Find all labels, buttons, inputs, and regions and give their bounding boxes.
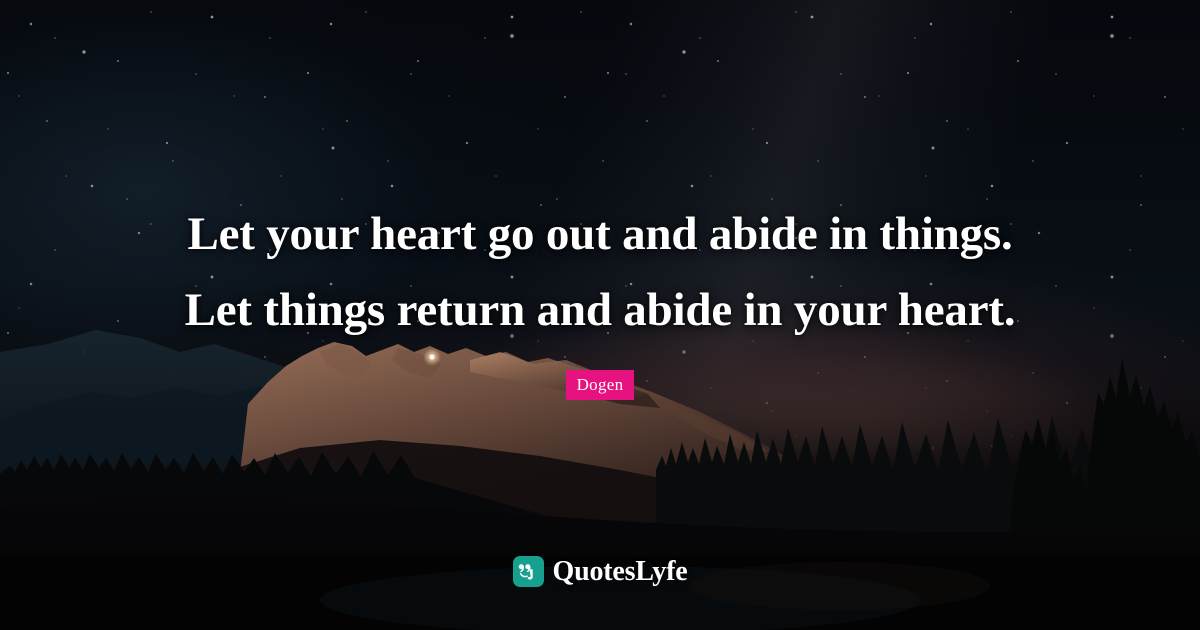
author-name-badge[interactable]: Dogen — [566, 370, 635, 400]
brand-logo[interactable]: QuotesLyfe — [0, 556, 1200, 587]
quote-card: Let your heart go out and abide in thing… — [0, 0, 1200, 630]
quote-mark-icon — [513, 556, 544, 587]
brand-name: QuotesLyfe — [553, 558, 688, 586]
quote-line-2: Let things return and abide in your hear… — [60, 272, 1140, 348]
quote-line-1: Let your heart go out and abide in thing… — [60, 196, 1140, 272]
author-badge-container: Dogen — [0, 370, 1200, 400]
quote-text-block: Let your heart go out and abide in thing… — [0, 196, 1200, 348]
